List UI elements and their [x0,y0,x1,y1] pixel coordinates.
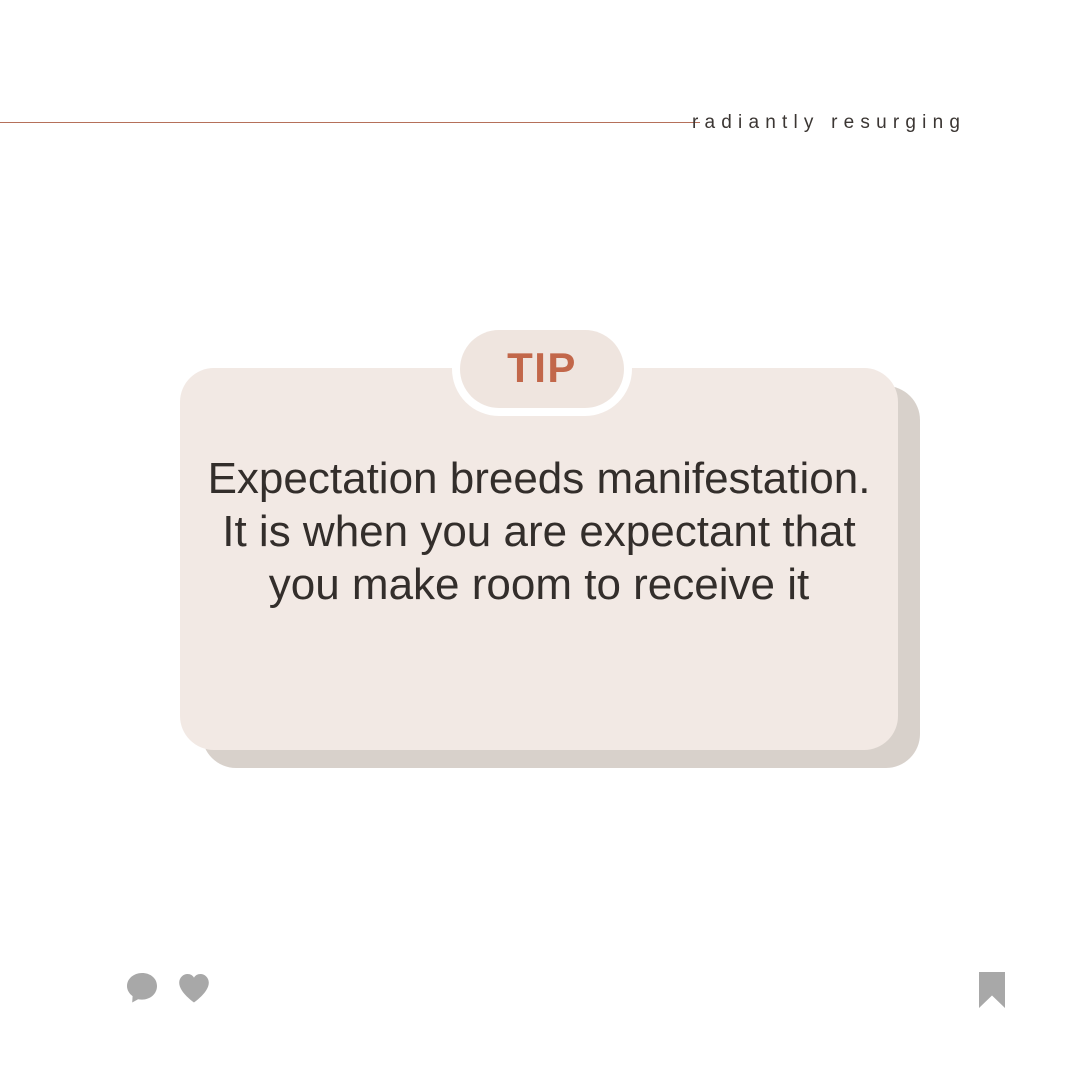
header-rule [0,122,700,123]
tip-badge-label: TIP [507,347,577,391]
post-canvas: radiantly resurging Expectation breeds m… [0,0,1080,1080]
footer-left-icons [124,970,212,1006]
heart-icon[interactable] [176,970,212,1006]
footer-right-icons [975,970,1009,1010]
bookmark-icon[interactable] [975,970,1009,1010]
tip-card: Expectation breeds manifestation. It is … [180,368,920,768]
brand-wordmark: radiantly resurging [692,113,966,132]
footer-actions [0,970,1080,1030]
header: radiantly resurging [0,105,1080,139]
card-surface: Expectation breeds manifestation. It is … [180,368,898,750]
comment-icon[interactable] [124,970,160,1006]
tip-badge: TIP [460,330,624,408]
quote-text: Expectation breeds manifestation. It is … [206,452,872,611]
